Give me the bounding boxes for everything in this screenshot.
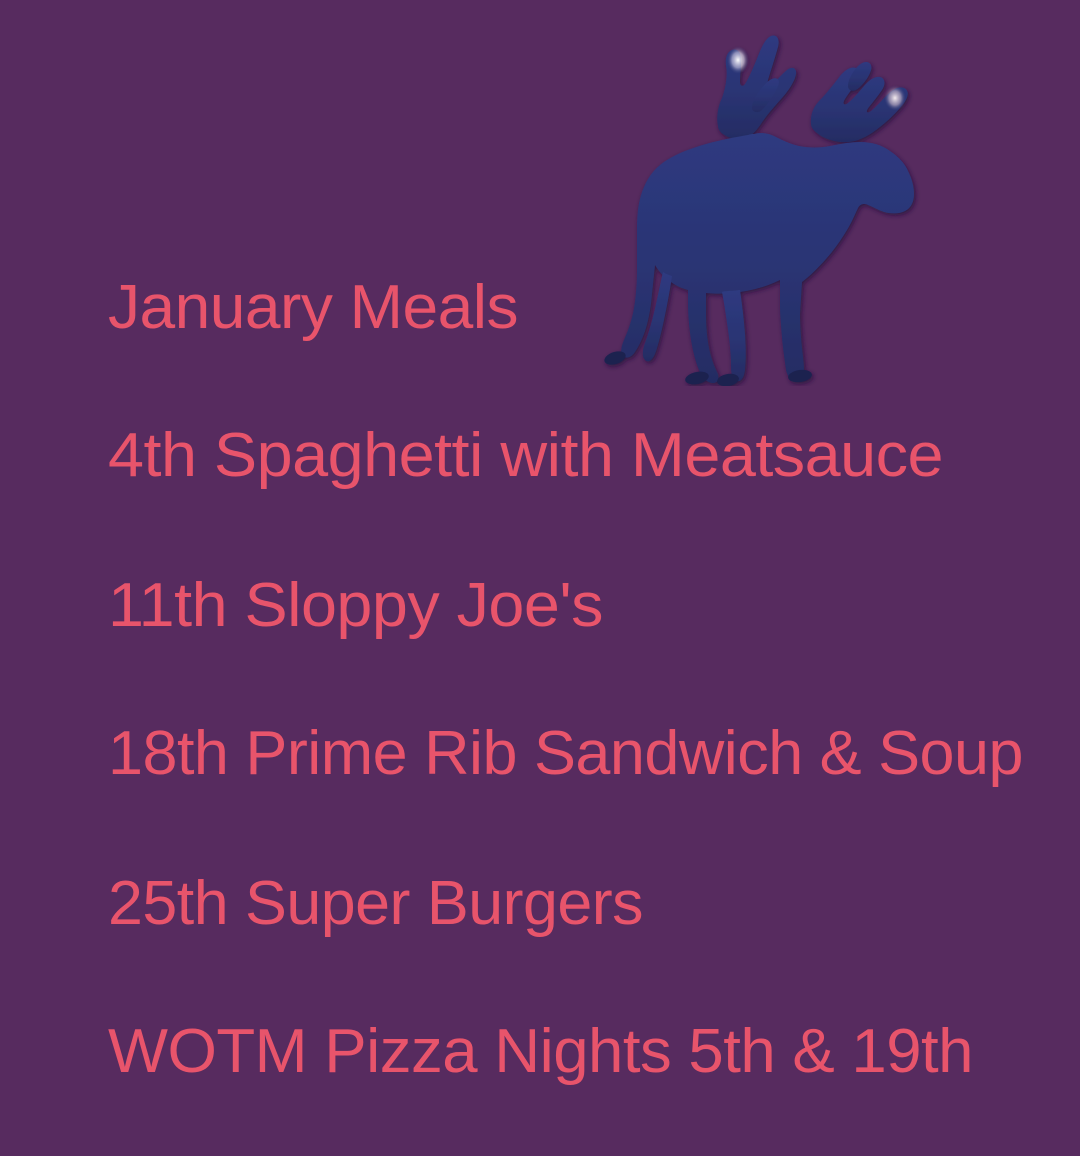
meal-line-text: 11th Sloppy Joe's: [108, 575, 603, 637]
meal-list-title: January Meals: [108, 260, 505, 356]
meal-line-text: WOTM Pizza Nights 5th & 19th: [108, 1021, 973, 1083]
meal-list-item: 11th Sloppy Joe's: [108, 558, 582, 654]
january-meals-poster: January Meals 4th Spaghetti with Meatsau…: [0, 0, 1080, 1156]
meal-line-text: 18th Prime Rib Sandwich & Soup: [108, 723, 1023, 785]
meal-list-item: 4th Spaghetti with Meatsauce: [108, 408, 907, 504]
meal-list-item: 25th Super Burgers: [108, 856, 637, 952]
meal-line-text: 4th Spaghetti with Meatsauce: [108, 425, 943, 487]
meal-list-item: WOTM Pizza Nights 5th & 19th: [108, 1004, 952, 1100]
meal-line-text: January Meals: [108, 277, 518, 339]
meal-list: January Meals 4th Spaghetti with Meatsau…: [0, 0, 1080, 1156]
meal-line-text: 25th Super Burgers: [108, 873, 643, 935]
meal-list-item: 18th Prime Rib Sandwich & Soup: [108, 706, 1010, 802]
